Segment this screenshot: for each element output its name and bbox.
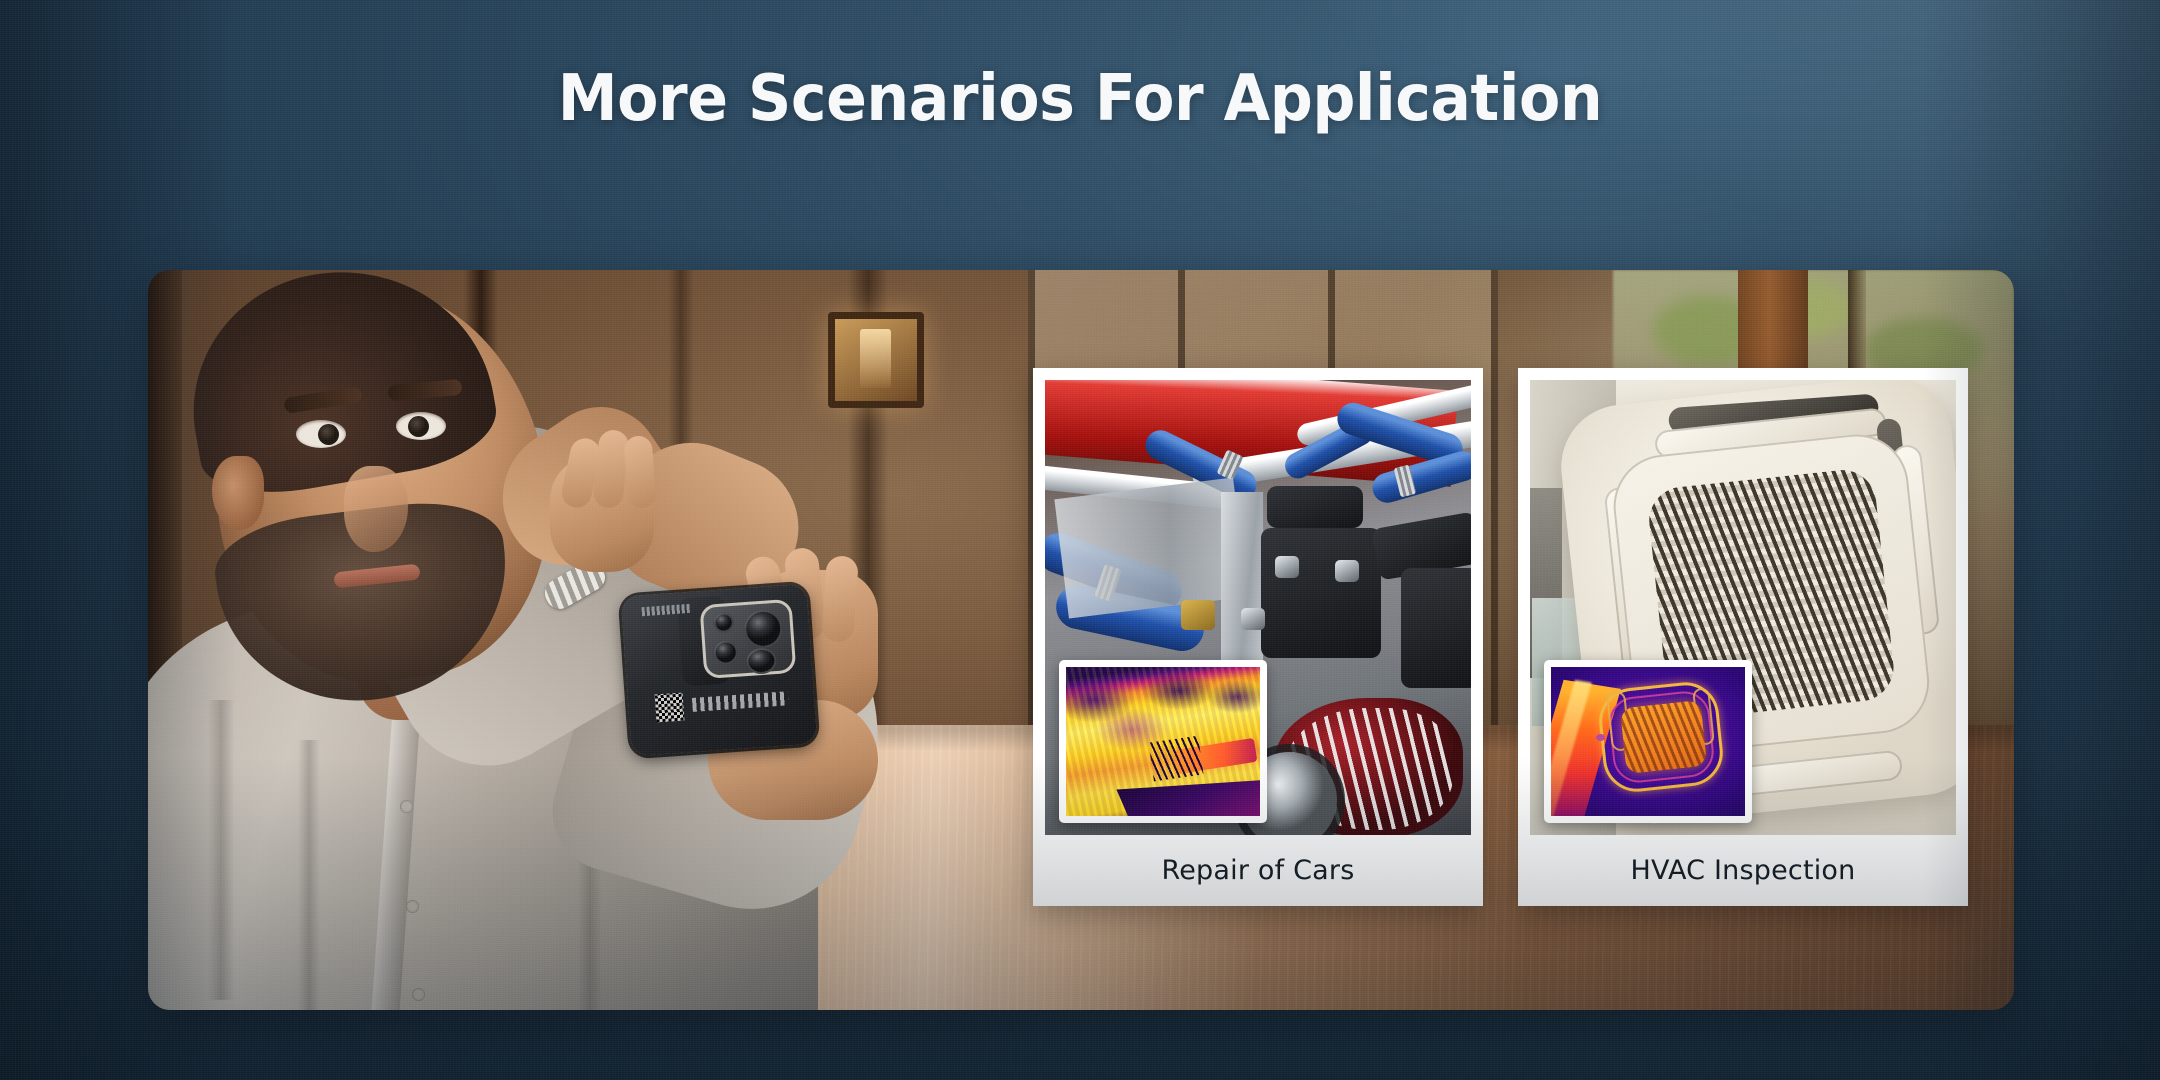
promo-banner: More Scenarios For Application xyxy=(0,0,2160,1080)
certification-marks xyxy=(692,691,789,712)
card-caption: HVAC Inspection xyxy=(1530,835,1956,906)
card-photo-car-engine xyxy=(1045,380,1471,835)
thermal-inset-ac xyxy=(1544,660,1752,823)
eye-left xyxy=(296,420,346,448)
camera-module xyxy=(699,599,796,679)
page-title: More Scenarios For Application xyxy=(65,57,2095,141)
camera-lens-tertiary xyxy=(746,647,778,675)
thermal-inset-engine xyxy=(1059,660,1267,823)
flash-icon xyxy=(713,612,734,633)
scenario-card-hvac-inspection[interactable]: HVAC Inspection xyxy=(1518,368,1968,906)
eye-right xyxy=(396,412,446,440)
camera-lens-main xyxy=(743,609,784,650)
scenario-card-repair-of-cars[interactable]: Repair of Cars xyxy=(1033,368,1483,906)
qr-code-icon xyxy=(655,693,685,723)
card-caption: Repair of Cars xyxy=(1045,835,1471,906)
camera-lens-secondary xyxy=(713,640,739,666)
thermal-camera-phone xyxy=(621,584,818,757)
card-photo-ac-unit xyxy=(1530,380,1956,835)
